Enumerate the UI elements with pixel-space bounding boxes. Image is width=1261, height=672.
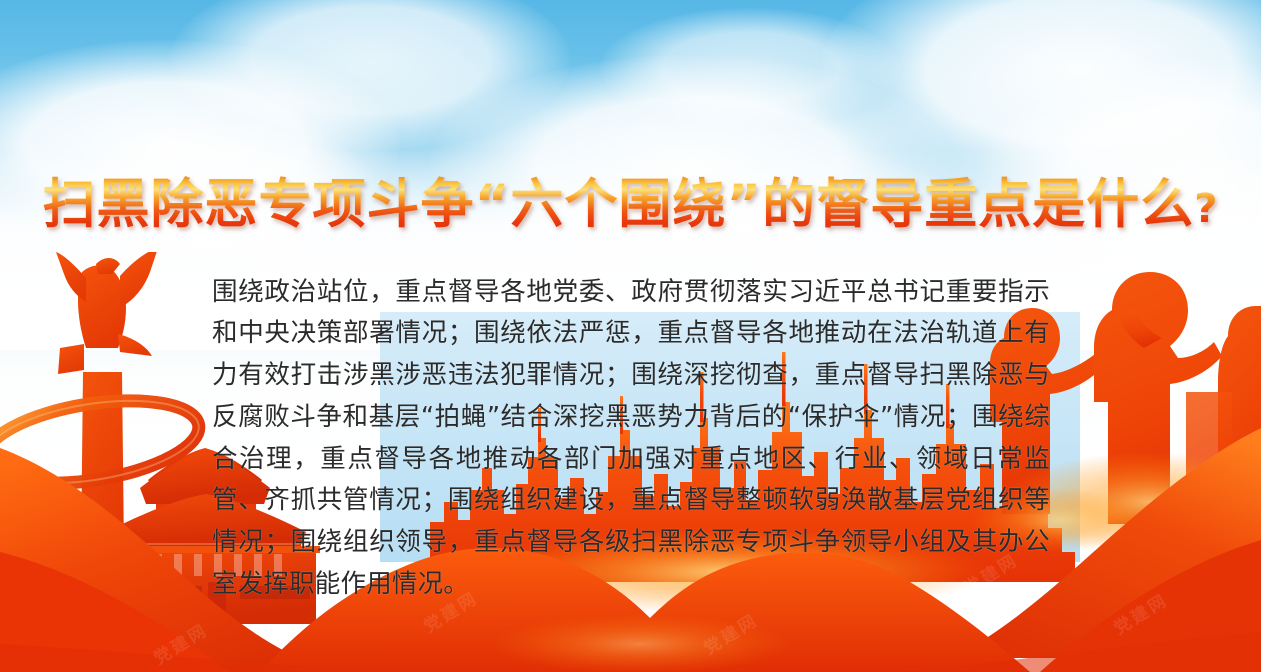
poster-canvas: 扫黑除恶专项斗争“六个围绕”的督导重点是什么? 围绕政治站位，重点督导各地党委、… xyxy=(0,0,1261,672)
poster-body-text: 围绕政治站位，重点督导各地党委、政府贯彻落实习近平总书记重要指示和中央决策部署情… xyxy=(212,272,1050,606)
